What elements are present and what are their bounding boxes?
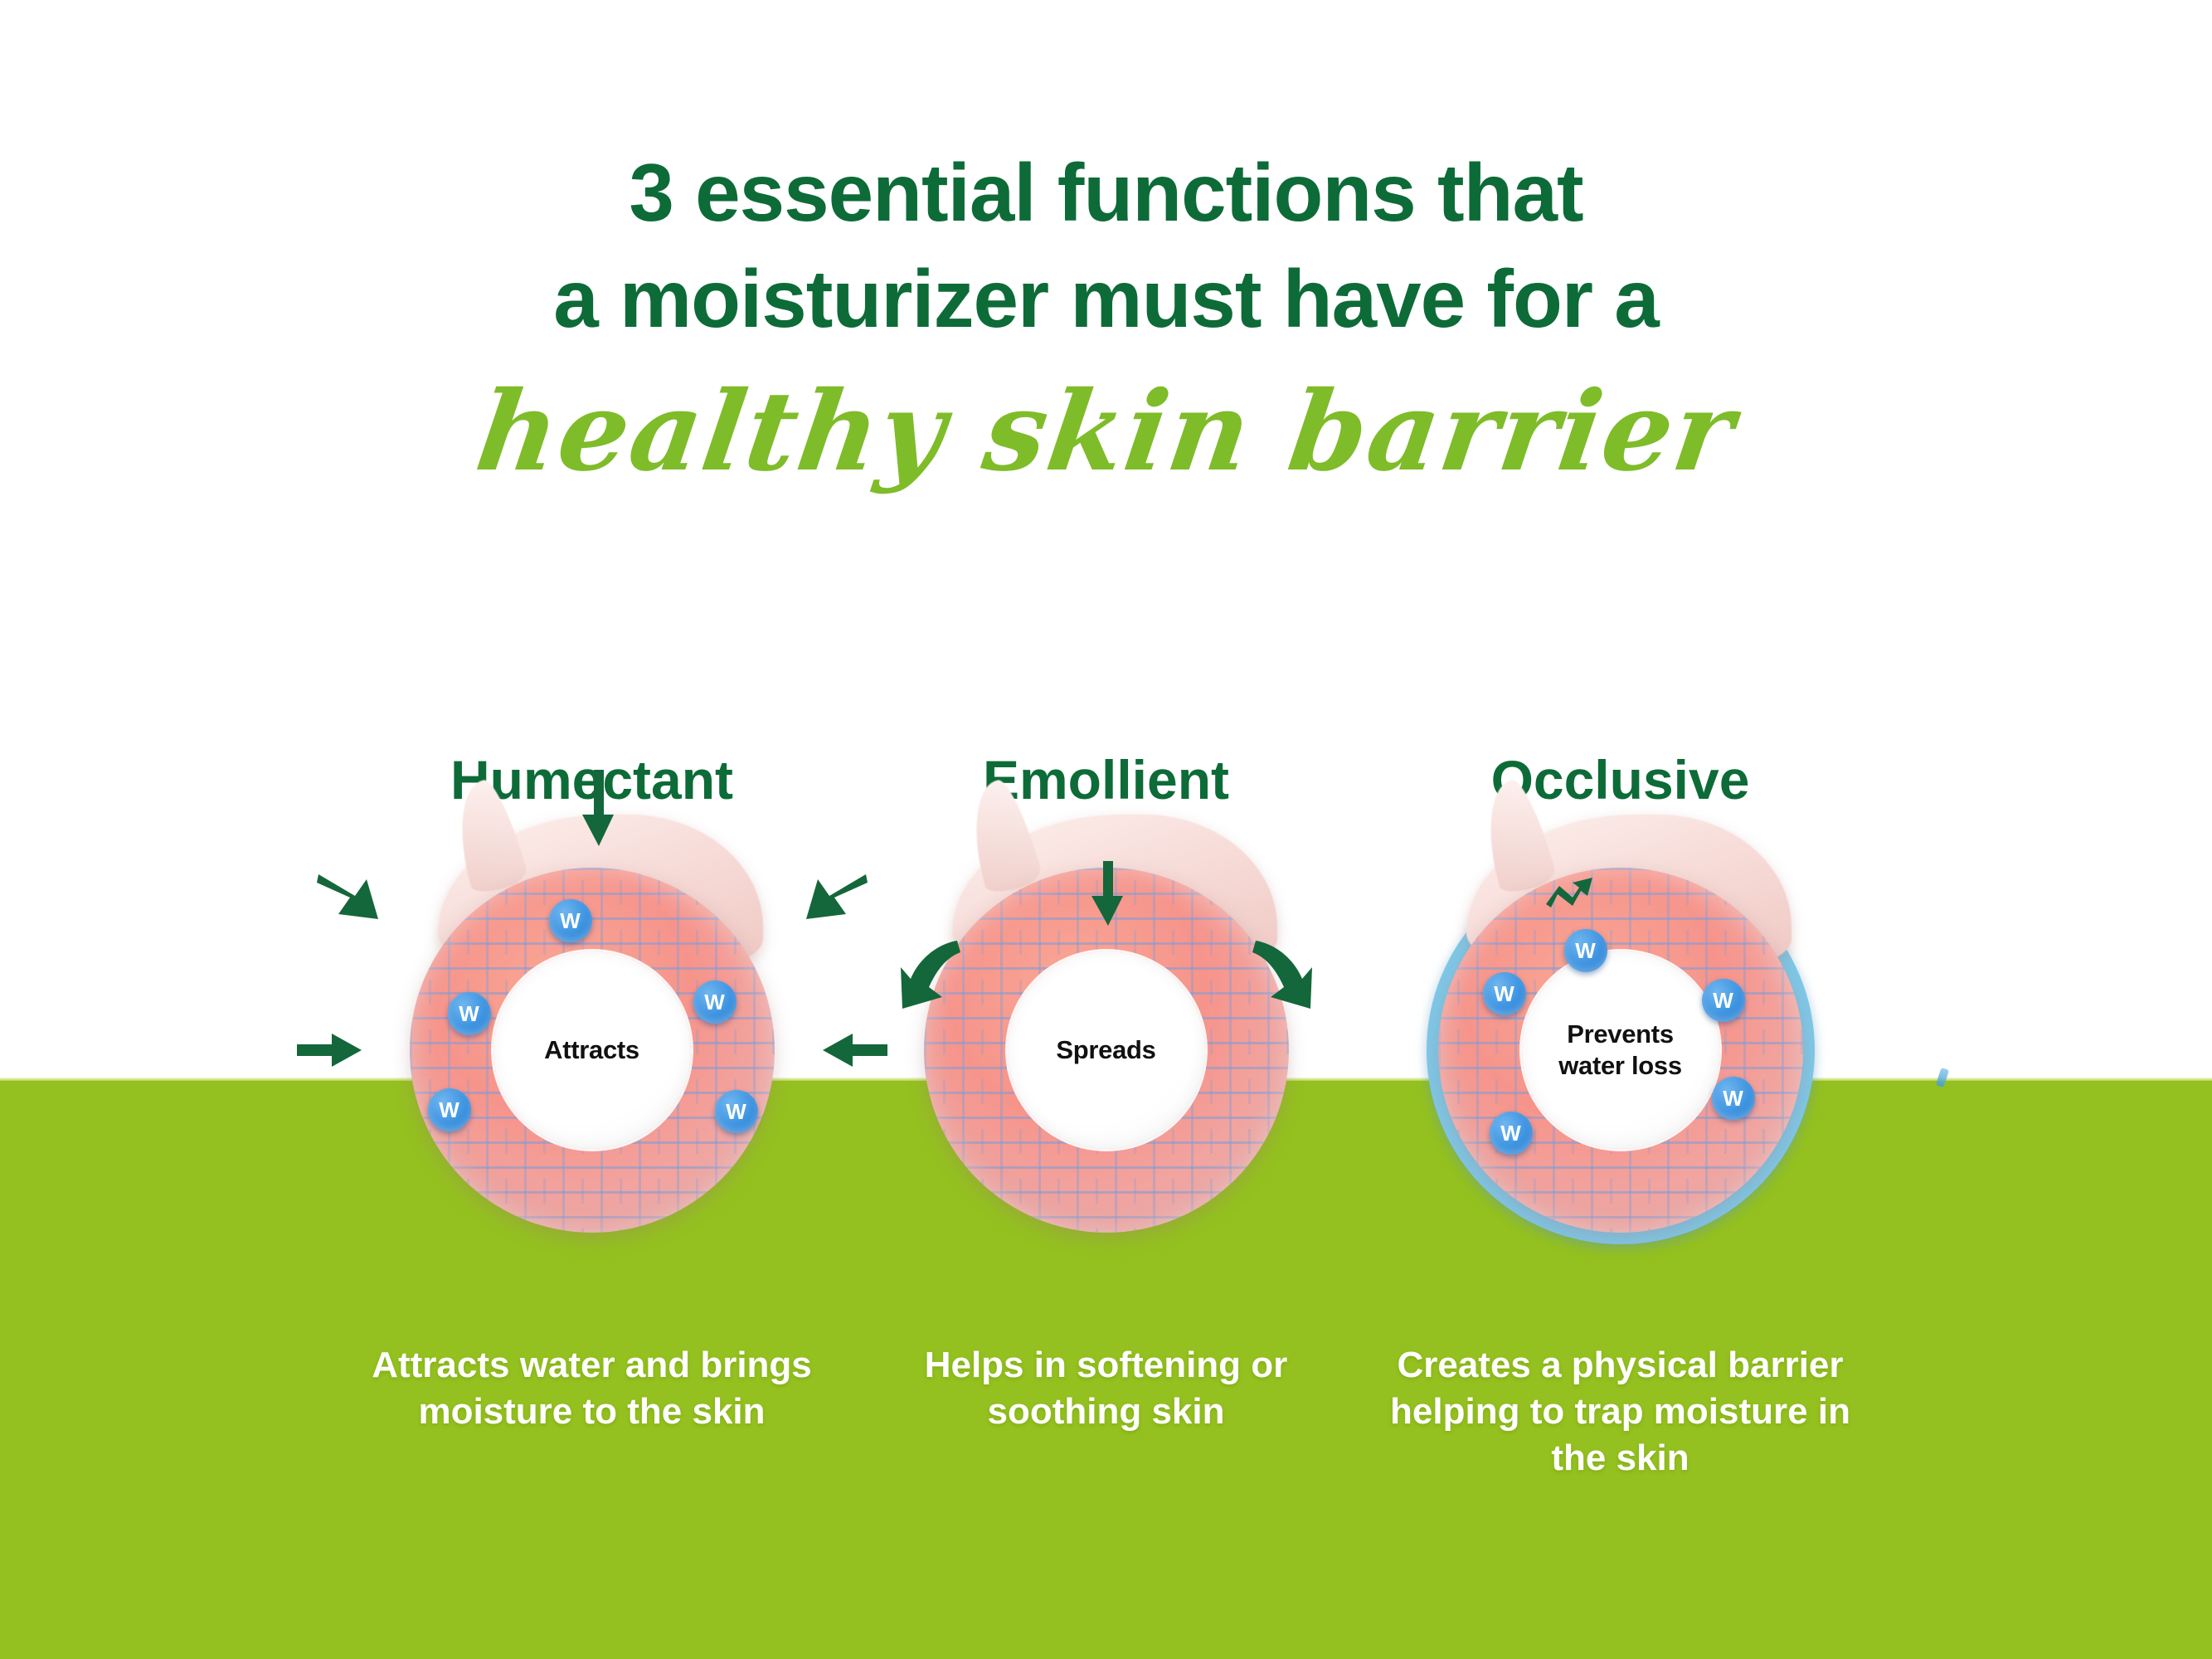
column-occlusive: Occlusive Prevents water loss W W (1364, 747, 1878, 1481)
skin-diagram-humectant: Attracts W W W W W (335, 834, 849, 1307)
skin-diagram-occlusive: Prevents water loss W W W W W (1364, 834, 1878, 1307)
column-caption-occlusive: Creates a physical barrier helping to tr… (1364, 1342, 1878, 1481)
diagram-core-humectant: Attracts (493, 951, 691, 1149)
column-caption-emollient: Helps in softening or soothing skin (849, 1342, 1364, 1435)
water-molecule: W (693, 980, 737, 1024)
headline-script-line: healthy skin barrier (0, 370, 2212, 494)
water-molecule: W (1483, 972, 1526, 1015)
water-molecule: W (428, 1088, 471, 1131)
arrow-right-into-left-icon (297, 1032, 362, 1068)
arrow-blocked-deflected-icon (1544, 873, 1594, 909)
column-humectant: Humectant Attracts W W W W W (335, 747, 849, 1435)
water-molecule: W (715, 1090, 758, 1133)
headline-block: 3 essential functions that a moisturizer… (0, 0, 2212, 494)
water-molecule: W (549, 899, 592, 942)
water-molecule: W (1490, 1112, 1533, 1155)
function-columns: Humectant Attracts W W W W W (0, 747, 2212, 1659)
water-molecule: W (1712, 1077, 1755, 1120)
arrow-curve-down-left-icon (899, 939, 964, 1010)
diagram-core-occlusive: Prevents water loss (1522, 951, 1719, 1149)
water-molecule: W (1702, 979, 1745, 1022)
core-label-line-1: Prevents (1558, 1019, 1682, 1050)
skin-diagram-emollient: Spreads (849, 834, 1364, 1307)
arrow-diagonal-in-left-icon (317, 871, 380, 924)
arrow-curve-down-right-icon (1249, 939, 1314, 1010)
headline-line-2: a moisturizer must have for a (0, 246, 2212, 352)
core-label-occlusive: Prevents water loss (1558, 1019, 1682, 1082)
column-caption-humectant: Attracts water and brings moisture to th… (335, 1342, 849, 1435)
core-label-line-2: water loss (1558, 1050, 1682, 1082)
column-title-occlusive: Occlusive (1364, 747, 1878, 820)
infographic-stage: 3 essential functions that a moisturizer… (0, 0, 2212, 1659)
headline-line-1: 3 essential functions that (0, 139, 2212, 246)
core-label-humectant: Attracts (544, 1034, 639, 1066)
column-emollient: Emollient Spreads (849, 747, 1364, 1435)
core-label-emollient: Spreads (1056, 1034, 1155, 1066)
arrow-down-top-icon (581, 770, 617, 846)
diagram-core-emollient: Spreads (1008, 951, 1205, 1149)
column-title-emollient: Emollient (849, 747, 1364, 820)
water-molecule: W (1564, 929, 1607, 972)
water-molecule: W (448, 992, 491, 1035)
arrow-down-top-icon (1090, 861, 1126, 926)
